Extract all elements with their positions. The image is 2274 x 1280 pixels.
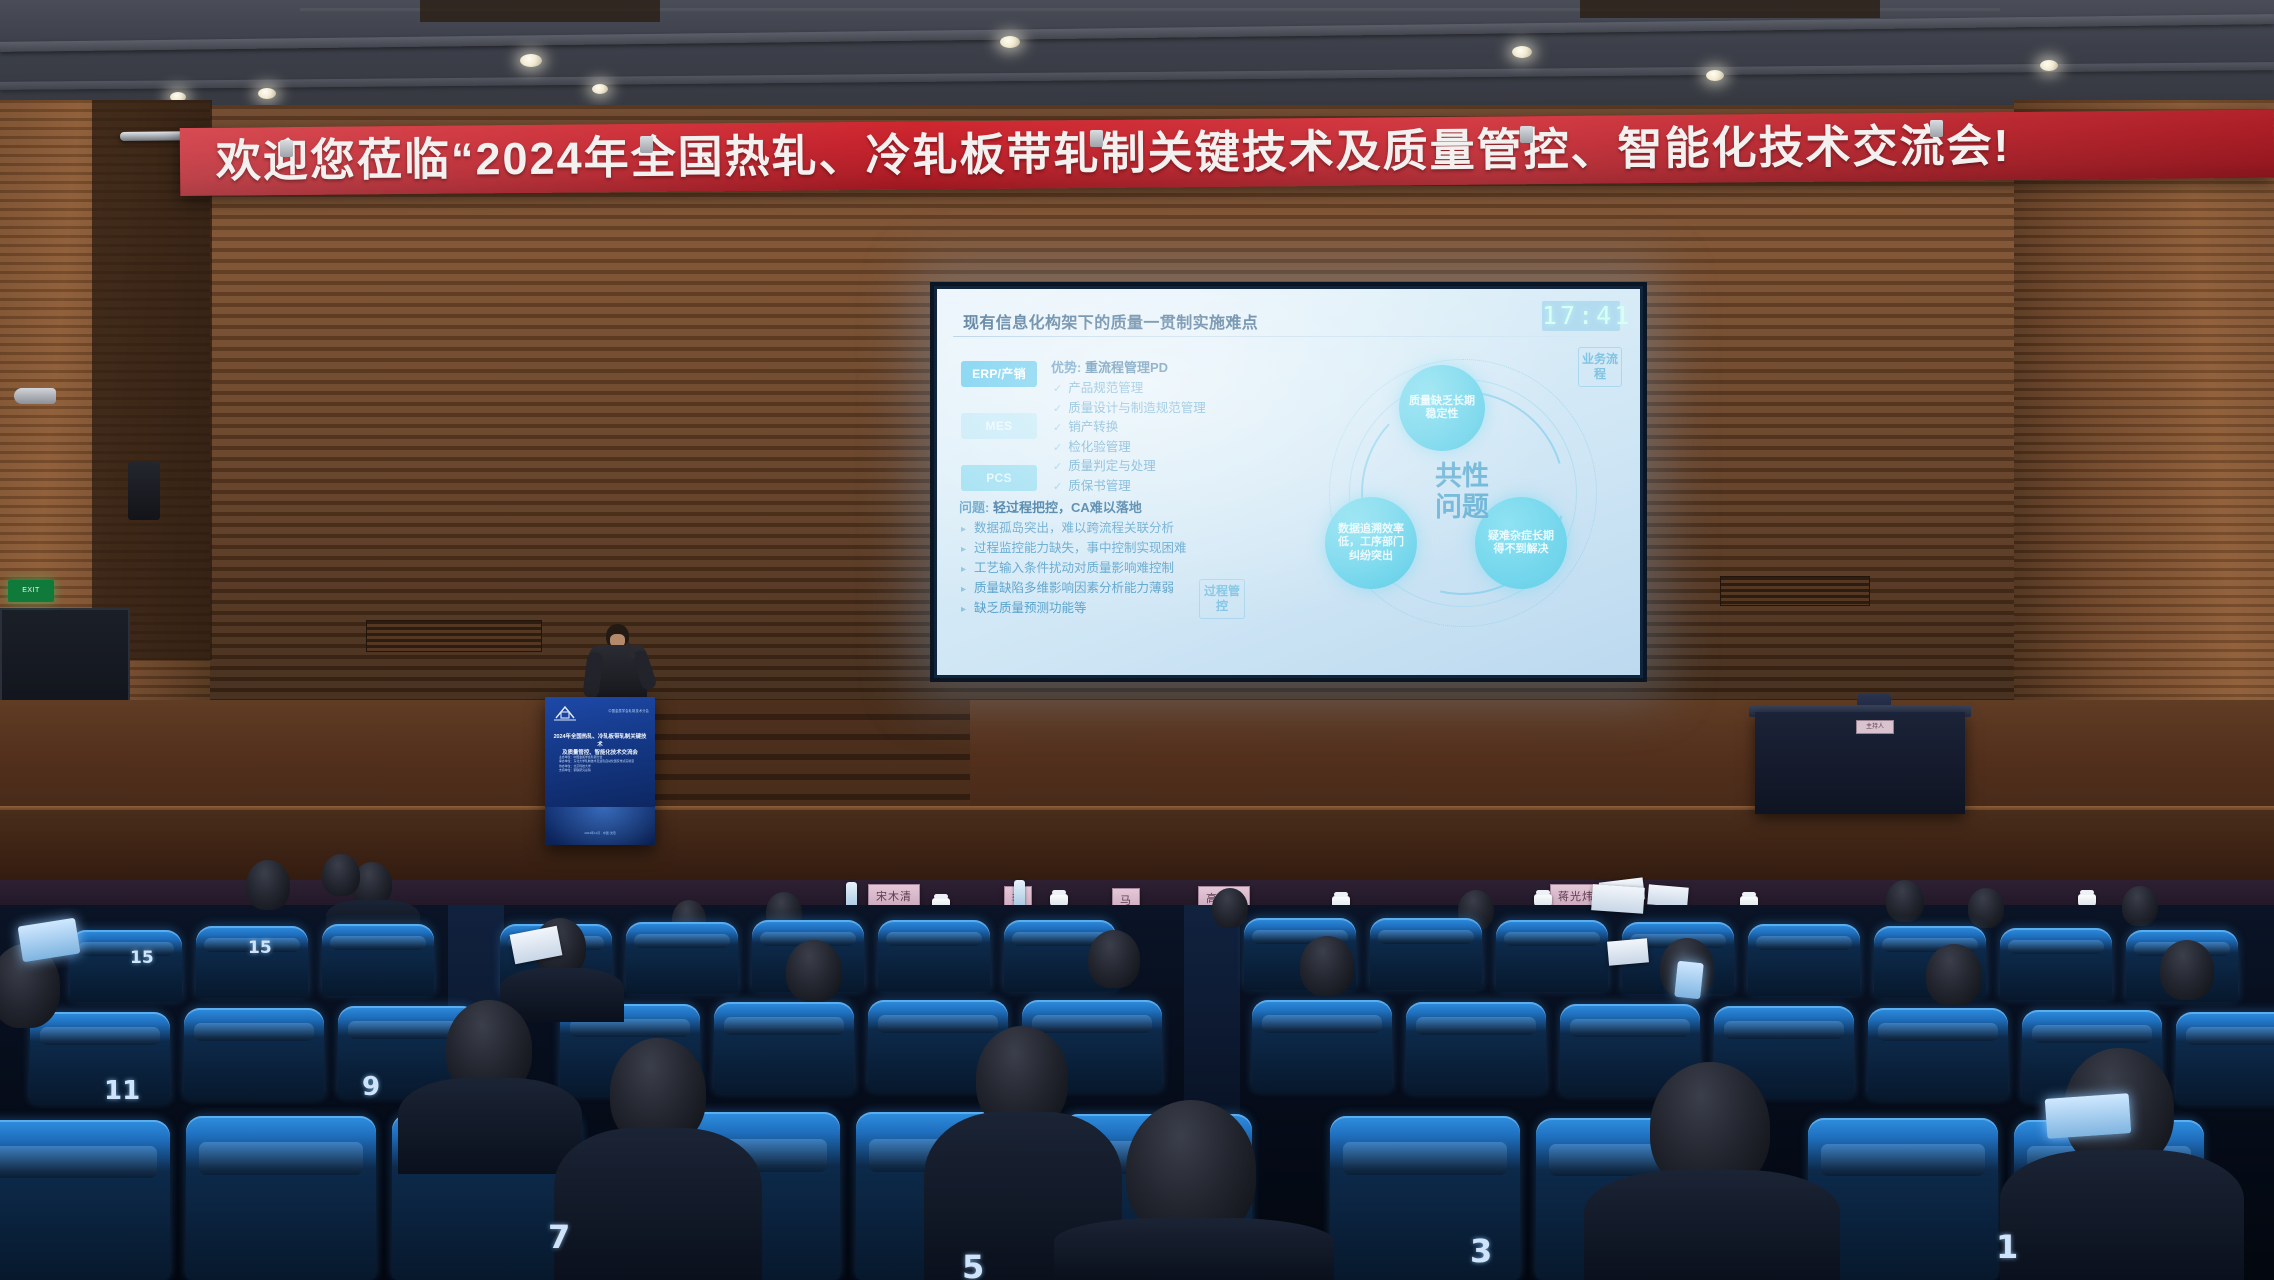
seat [626,922,738,994]
audience-head [1926,944,1982,1006]
seat [30,1012,170,1104]
problem-prefix: 问题: [959,500,993,515]
diagram-center-label: 共性 问题 [1407,461,1517,523]
problem-item: 质量缺陷多维影响因素分析能力薄弱 [961,579,1187,599]
seat [1496,920,1608,992]
phone-screen [1674,961,1704,1000]
advantage-highlight: 重流程管理PD [1085,360,1168,375]
ceiling-recess [420,0,660,22]
problem-highlight: 轻过程把控，CA难以落地 [993,500,1142,515]
advantage-prefix: 优势: [1051,360,1085,375]
audience-head [786,940,842,1002]
banner-clip [280,140,293,157]
problem-heading: 问题: 轻过程把控，CA难以落地 [959,497,1142,516]
audience-head [2160,940,2214,1000]
advantage-item: 质量设计与制造规范管理 [1053,399,1206,419]
organization-logo-icon [552,704,578,722]
bubble-left: 数据追溯效率低，工序部门纠纷突出 [1325,497,1417,589]
document-sheet [1591,884,1645,914]
podium-title: 2024年全国热轧、冷轧板带轧制关键技术 及质量管控、智能化技术交流会 [552,733,648,757]
audience-head [1886,880,1924,922]
seat-number: 3 [1470,1232,1492,1270]
problem-list: 数据孤岛突出，难以跨流程关联分析 过程监控能力缺失，事中控制实现困难 工艺输入条… [961,519,1187,619]
advantage-heading: 优势: 重流程管理PD [1051,357,1168,376]
ceiling-light [1512,46,1532,58]
podium-footer: 2024年11月 · 中国 沈阳 [552,831,648,836]
audience-head [322,854,360,896]
slide-clock: 17:41 [1542,301,1620,331]
banner-clip [1090,130,1103,147]
advantage-item: 质量判定与处理 [1053,457,1206,477]
side-table-nameplate: 主持人 [1856,720,1894,734]
banner-clip [1930,120,1943,137]
document-sheet [1607,938,1649,965]
seat [1748,924,1860,996]
seat [714,1002,854,1094]
ceiling-light [520,54,542,67]
seat-number: 11 [104,1076,140,1106]
seat [2000,928,2112,1000]
banner-clip [640,136,653,153]
auditorium-photo: EXIT 欢迎您莅临“2024年全国热轧、冷轧板带轧制关键技术及质量管控、智能化… [0,0,2274,1280]
exit-sign: EXIT [8,580,54,602]
projection-screen: 现有信息化构架下的质量一贯制实施难点 17:41 ERP/产销 MES PCS … [930,282,1647,682]
seat-number: 7 [548,1218,570,1256]
seat [196,926,308,998]
audience-head [1968,888,2004,928]
audience-shoulders [1054,1218,1334,1280]
ceiling-light [258,88,276,99]
slide-title: 现有信息化构架下的质量一贯制实施难点 [963,309,1258,333]
audience-shoulders [554,1128,762,1280]
ceiling-light [1000,36,1020,48]
advantage-item: 检化验管理 [1053,438,1206,458]
system-tag-mes: MES [961,413,1037,439]
seat [0,1120,170,1280]
slide-title-rule [953,336,1613,337]
audience-shoulders [398,1078,582,1174]
podium-body: 主办单位：中国金属学会轧钢分会 承办单位：东北大学轧制技术及连轧自动化国家重点实… [559,755,643,773]
audience-head [246,860,290,910]
problem-item: 工艺输入条件扰动对质量影响难控制 [961,559,1187,579]
advantage-item: 质保书管理 [1053,477,1206,497]
center-line-1: 共性 [1407,461,1517,492]
system-tag-erp: ERP/产销 [961,361,1037,387]
problem-item: 数据孤岛突出，难以跨流程关联分析 [961,519,1187,539]
advantage-item: 销产转换 [1053,418,1206,438]
process-control-tag: 过程管控 [1199,579,1245,619]
audience-head [1300,936,1354,996]
seat [184,1008,324,1100]
ceiling-light [2040,60,2058,71]
wall-vent [366,620,542,652]
audience-shoulders [2000,1150,2244,1280]
seat [878,920,990,992]
seat [70,930,182,1002]
advantage-list: 产品规范管理 质量设计与制造规范管理 销产转换 检化验管理 质量判定与处理 质保… [1053,379,1206,496]
welcome-banner-text: 欢迎您莅临“2024年全国热轧、冷轧板带轧制关键技术及质量管控、智能化技术交流会… [216,116,2011,192]
podium-banner: 中国金属学会轧制技术分会 2024年全国热轧、冷轧板带轧制关键技术 及质量管控、… [545,697,655,845]
podium-org-sub: 中国金属学会轧制技术分会 [608,708,649,713]
ceiling-light [1706,70,1724,81]
exit-sign-label: EXIT [8,580,54,602]
seat [1370,918,1482,990]
seat [1406,1002,1546,1094]
right-wall [2014,100,2274,740]
wall-speaker [128,462,160,520]
audience-head [2122,886,2158,926]
seat [1252,1000,1392,1092]
security-camera-icon [14,388,56,404]
slide-surface: 现有信息化构架下的质量一贯制实施难点 17:41 ERP/产销 MES PCS … [937,289,1640,675]
bubble-top: 质量缺乏长期稳定性 [1399,365,1485,451]
advantage-item: 产品规范管理 [1053,379,1206,399]
common-problems-diagram: 质量缺乏长期稳定性 数据追溯效率低，工序部门纠纷突出 疑难杂症长期得不到解决 共… [1303,349,1623,649]
seat [322,924,434,996]
wall-vent [1720,576,1870,606]
seat-number: 15 [130,948,154,968]
seat-number: 1 [1996,1228,2018,1266]
seat-number: 9 [362,1072,380,1102]
problem-item: 缺乏质量预测功能等 [961,599,1187,619]
problem-item: 过程监控能力缺失，事中控制实现困难 [961,539,1187,559]
seat-number: 5 [962,1248,984,1280]
seat [2176,1012,2274,1104]
seat-number: 15 [248,938,272,958]
seat [186,1116,376,1280]
system-tag-pcs: PCS [961,465,1037,491]
banner-clip [1520,126,1533,143]
ceiling-light [592,84,608,94]
ceiling-recess [1580,0,1880,18]
audience-head [1212,888,1248,928]
center-line-2: 问题 [1407,492,1517,523]
phone-screen [2045,1093,2132,1139]
audience-head [1088,930,1140,988]
seat [1868,1008,2008,1100]
audience-shoulders [1584,1170,1840,1280]
